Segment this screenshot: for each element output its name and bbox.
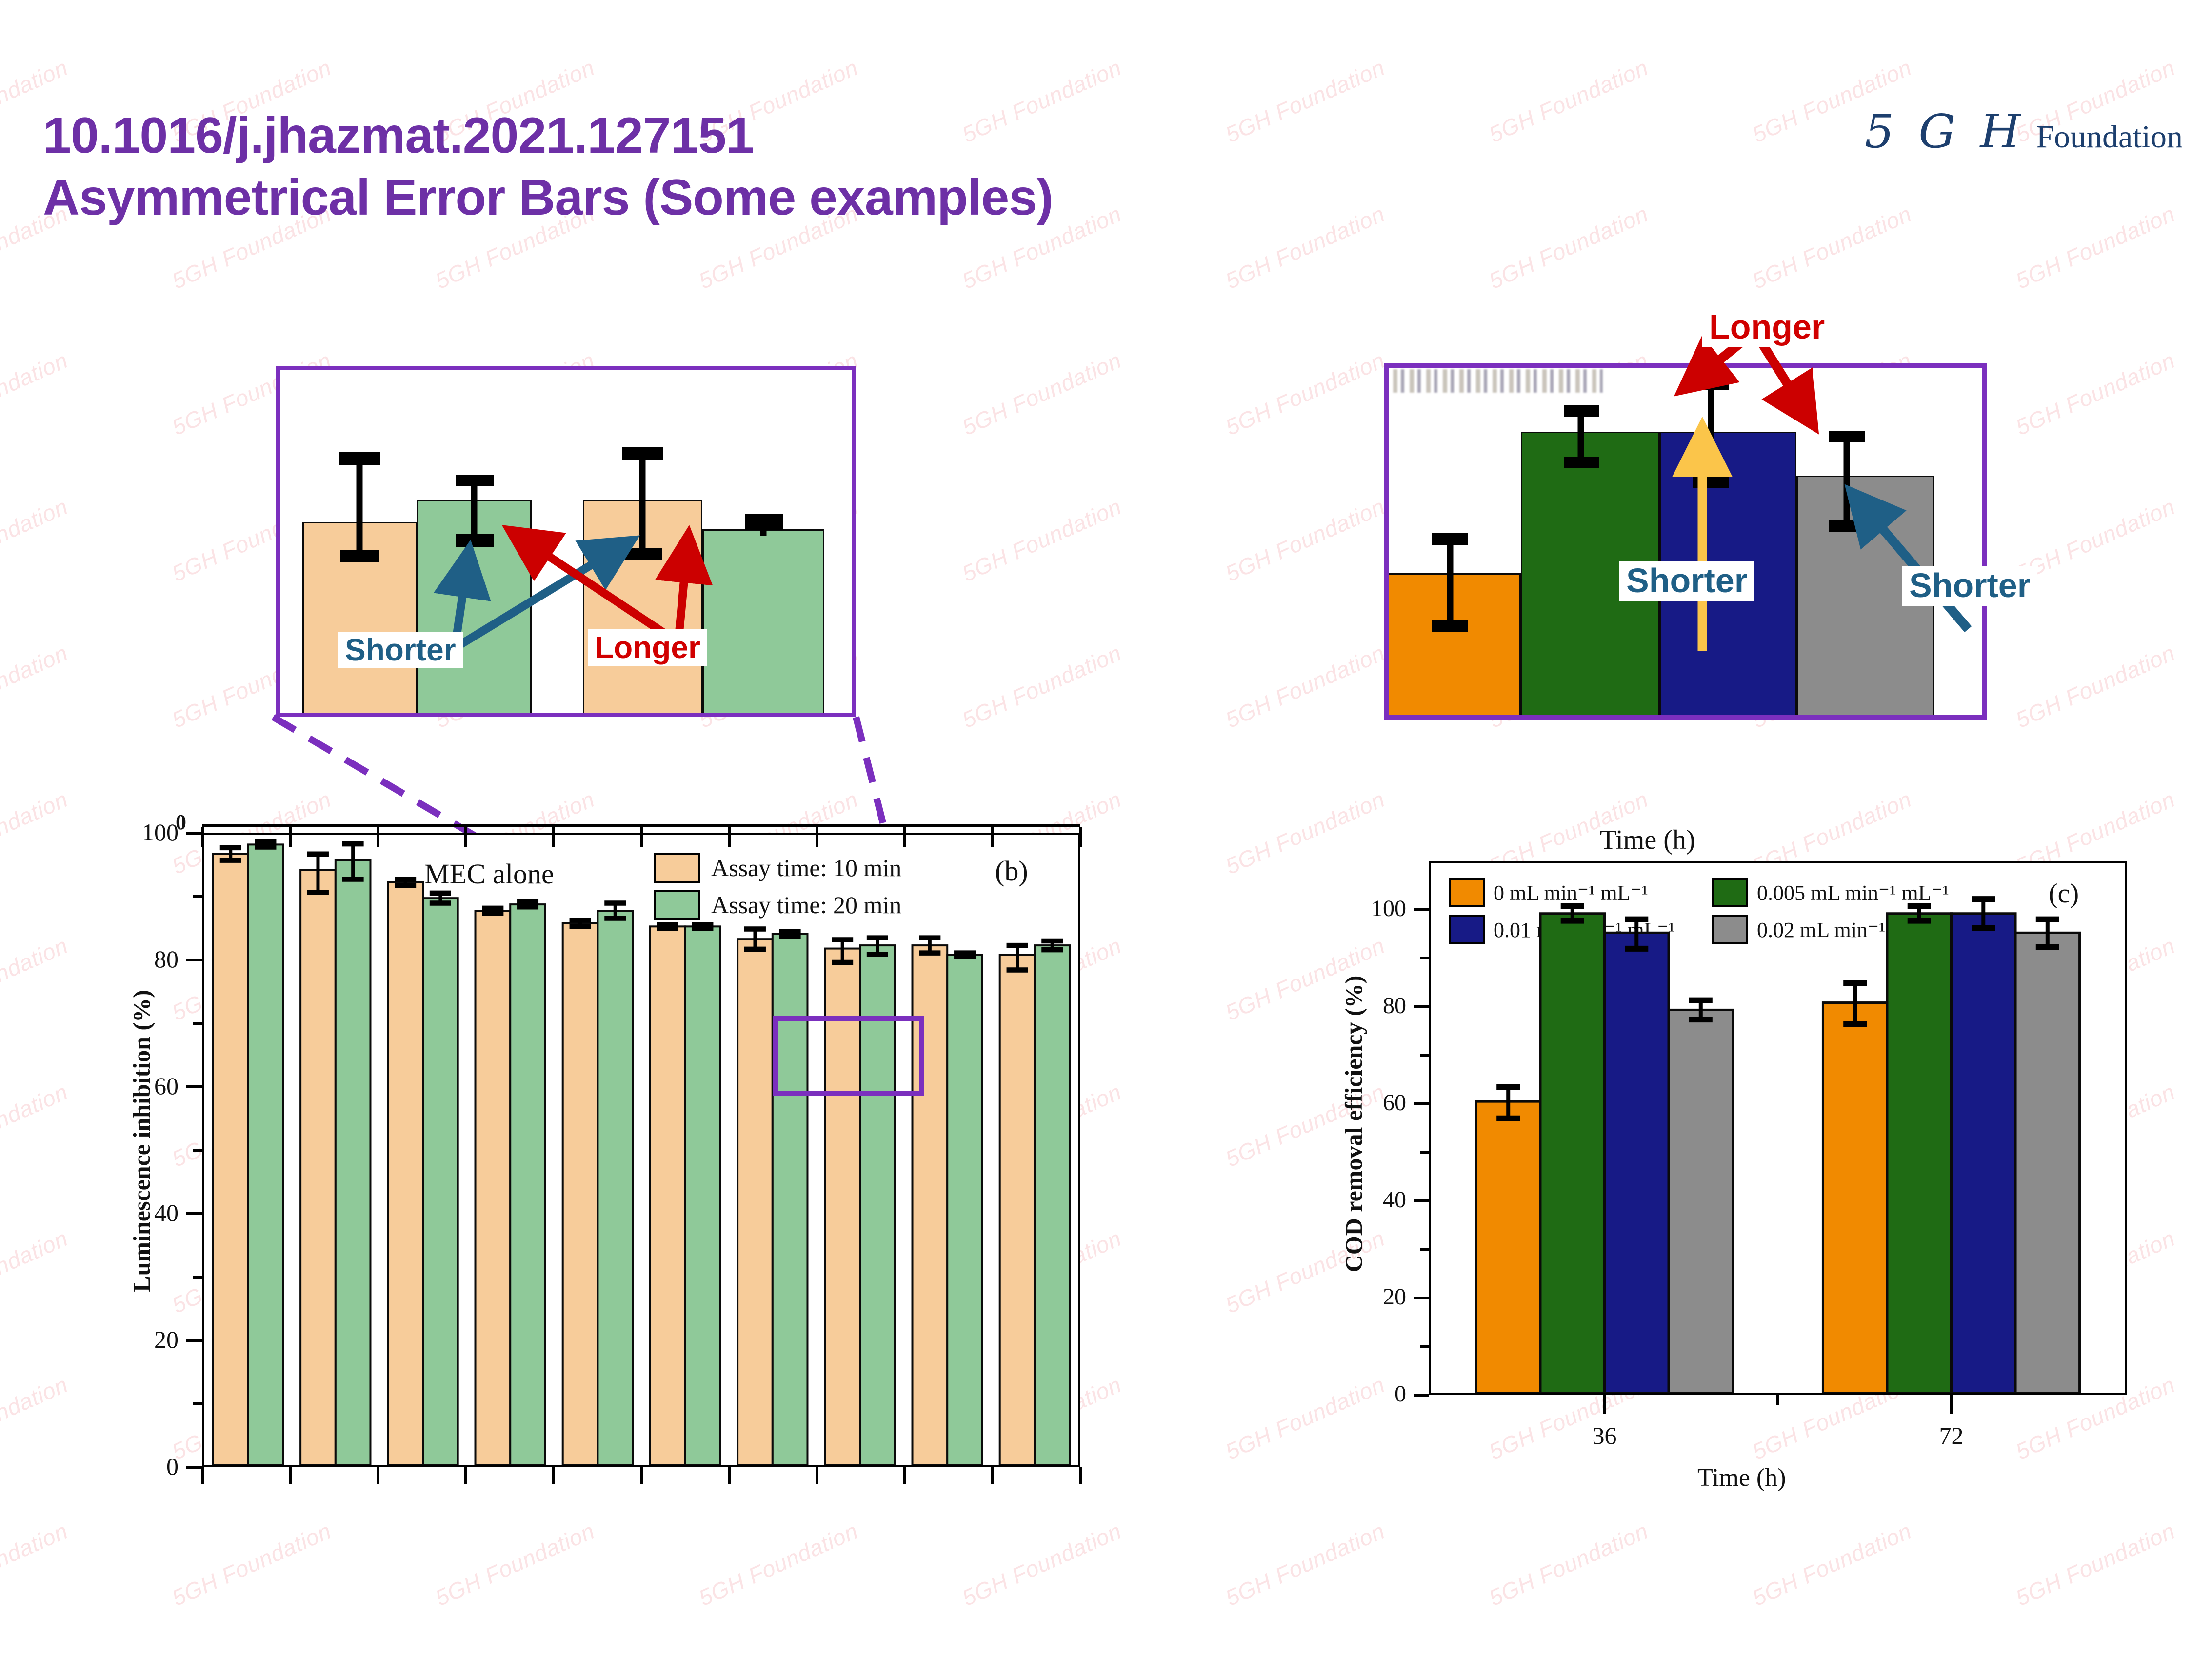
magnified-inset-left: Shorter Longer (276, 366, 856, 717)
bar (248, 844, 283, 1465)
inset-left-plot: Shorter Longer (276, 366, 856, 717)
y-axis-tick-label: 0 (1331, 1380, 1406, 1407)
y-axis-tick-label: 40 (1331, 1186, 1406, 1213)
panel-b-bottom-axis-tick (377, 1467, 379, 1484)
callout-shorter-left: Shorter (338, 632, 463, 668)
callout-shorter-right-2: Shorter (1902, 566, 2037, 606)
callout-longer-right: Longer (1702, 307, 1832, 347)
y-axis-tick (1414, 1394, 1429, 1397)
bar (598, 911, 633, 1465)
bar (213, 854, 248, 1465)
chart-panel-c: Time (h) COD removal efficiency (%) 0204… (1268, 824, 2156, 1507)
bar (1605, 933, 1669, 1393)
y-axis-tick (186, 832, 202, 835)
y-axis-minor-tick (193, 1402, 202, 1405)
y-axis-tick (1414, 1005, 1429, 1008)
panel-c-xlabel: Time (h) (1697, 1463, 1786, 1492)
bar (476, 911, 511, 1465)
y-axis-tick-label: 60 (103, 1072, 179, 1100)
callout-shorter-right-1: Shorter (1619, 561, 1754, 601)
bar (1476, 1101, 1540, 1393)
y-axis-tick-label: 0 (103, 1452, 179, 1480)
y-axis-minor-tick (193, 1276, 202, 1279)
x-axis-tick (1603, 1393, 1606, 1414)
bar (300, 870, 336, 1465)
bar (773, 934, 808, 1465)
y-axis-tick (1414, 1102, 1429, 1105)
bar (737, 939, 773, 1465)
y-axis-tick (186, 1339, 202, 1342)
panel-b-bottom-axis-tick (201, 1467, 204, 1484)
bar (650, 926, 685, 1465)
bar (2015, 933, 2080, 1393)
logo-mark: 5 G H (1865, 105, 2026, 159)
bar (1035, 945, 1070, 1465)
y-axis-tick (186, 1212, 202, 1215)
panel-b-bottom-axis-tick (552, 1467, 555, 1484)
y-axis-minor-tick (1420, 1054, 1429, 1057)
panel-b-top-axis-tick (201, 827, 204, 847)
y-axis-tick-label: 40 (103, 1199, 179, 1227)
bar (685, 926, 720, 1465)
x-axis-tick-label: 36 (1561, 1421, 1649, 1450)
bar (1669, 1010, 1733, 1393)
panel-c-top-title: Time (h) (1600, 824, 1695, 856)
panel-b-bottom-axis-tick (991, 1467, 994, 1484)
panel-b-ylabel: Luminescence inhibition (%) (127, 956, 156, 1326)
panel-b-bottom-axis-tick (728, 1467, 731, 1484)
panel-c-bars-svg (1431, 863, 2125, 1393)
logo-word: Foundation (2036, 119, 2183, 156)
panel-b-bottom-axis-tick (640, 1467, 643, 1484)
callout-longer-left: Longer (588, 629, 707, 666)
y-axis-tick-label: 60 (1331, 1089, 1406, 1116)
panel-b-top-axis-tick (1079, 827, 1082, 847)
panel-b-bottom-axis-tick (1079, 1467, 1082, 1484)
bar (1540, 914, 1605, 1393)
y-axis-minor-tick (193, 895, 202, 898)
bar (388, 882, 423, 1465)
bar (947, 955, 982, 1465)
y-axis-tick-label: 20 (103, 1325, 179, 1354)
panel-b-bottom-axis-tick (289, 1467, 292, 1484)
y-axis-minor-tick (1420, 1248, 1429, 1251)
y-axis-minor-tick (1420, 957, 1429, 959)
bar (1952, 914, 2016, 1393)
bar (1000, 955, 1035, 1465)
y-axis-tick-label: 20 (1331, 1283, 1406, 1310)
longer-arrow-right-2 (1758, 338, 1810, 420)
bar (336, 860, 371, 1465)
slide-subtitle: Asymmetrical Error Bars (Some examples) (43, 167, 1053, 229)
shorter-arrow-right-blue (1856, 498, 1968, 629)
y-axis-tick-label: 100 (1331, 895, 1406, 922)
panel-c-bars-area (1431, 863, 2125, 1393)
panel-b-bottom-axis-tick (816, 1467, 818, 1484)
panel-b-bottom-axis-tick (464, 1467, 467, 1484)
chart-panel-b: 0 Luminescence inhibition (%) 0204060801… (112, 824, 1083, 1488)
y-axis-minor-tick (1420, 1151, 1429, 1154)
bar (563, 923, 598, 1465)
bar (510, 904, 545, 1465)
x-axis-minor-tick (1776, 1393, 1779, 1405)
panel-b-bars-svg (204, 835, 1078, 1465)
panel-c-ylabel: COD removal efficiency (%) (1339, 904, 1368, 1343)
inset-left-bar-3 (583, 500, 702, 717)
y-axis-minor-tick (1420, 1345, 1429, 1348)
y-axis-tick (186, 1466, 202, 1469)
x-axis-tick (1950, 1393, 1953, 1414)
y-axis-tick-label: 80 (1331, 992, 1406, 1019)
panel-b-bars-area (204, 835, 1078, 1465)
inset-left-bar-2 (417, 500, 532, 717)
bar (423, 898, 458, 1465)
brand-logo: 5 G H Foundation (1865, 105, 2183, 159)
page-title: 10.1016/j.jhazmat.2021.127151 Asymmetric… (43, 105, 1053, 229)
panel-b-highlight-rect (773, 1016, 924, 1096)
y-axis-tick (1414, 908, 1429, 911)
y-axis-tick-label: 100 (103, 818, 179, 846)
y-axis-minor-tick (193, 1149, 202, 1152)
y-axis-tick (186, 959, 202, 961)
inset-left-bar-4 (702, 529, 824, 717)
bar (1823, 1003, 1887, 1393)
doi-text: 10.1016/j.jhazmat.2021.127151 (43, 107, 754, 164)
panel-b-bottom-axis-tick (903, 1467, 906, 1484)
y-axis-tick (186, 1085, 202, 1088)
y-axis-tick-label: 80 (103, 945, 179, 973)
x-axis-tick-label: 72 (1908, 1421, 1995, 1450)
inset-right-annotation-arrows (1317, 293, 2097, 756)
bar (1887, 914, 1952, 1393)
y-axis-tick (1414, 1297, 1429, 1299)
inset-left-bar-1 (302, 522, 417, 717)
y-axis-tick (1414, 1199, 1429, 1202)
y-axis-minor-tick (193, 1022, 202, 1025)
